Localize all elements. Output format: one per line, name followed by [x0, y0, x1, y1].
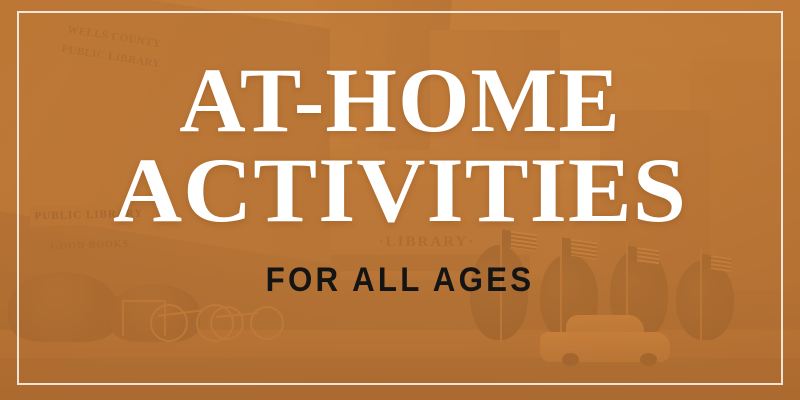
headline-line-1: AT-HOME: [179, 58, 620, 144]
subtitle: FOR ALL AGES: [266, 261, 535, 300]
text-stack: AT-HOME ACTIVITIES FOR ALL AGES: [0, 0, 800, 400]
headline-line-2: ACTIVITIES: [113, 148, 687, 234]
at-home-activities-banner: ·LIBRARY· WELLS COUNTY PUBLIC LIBRARY PU…: [0, 0, 800, 400]
